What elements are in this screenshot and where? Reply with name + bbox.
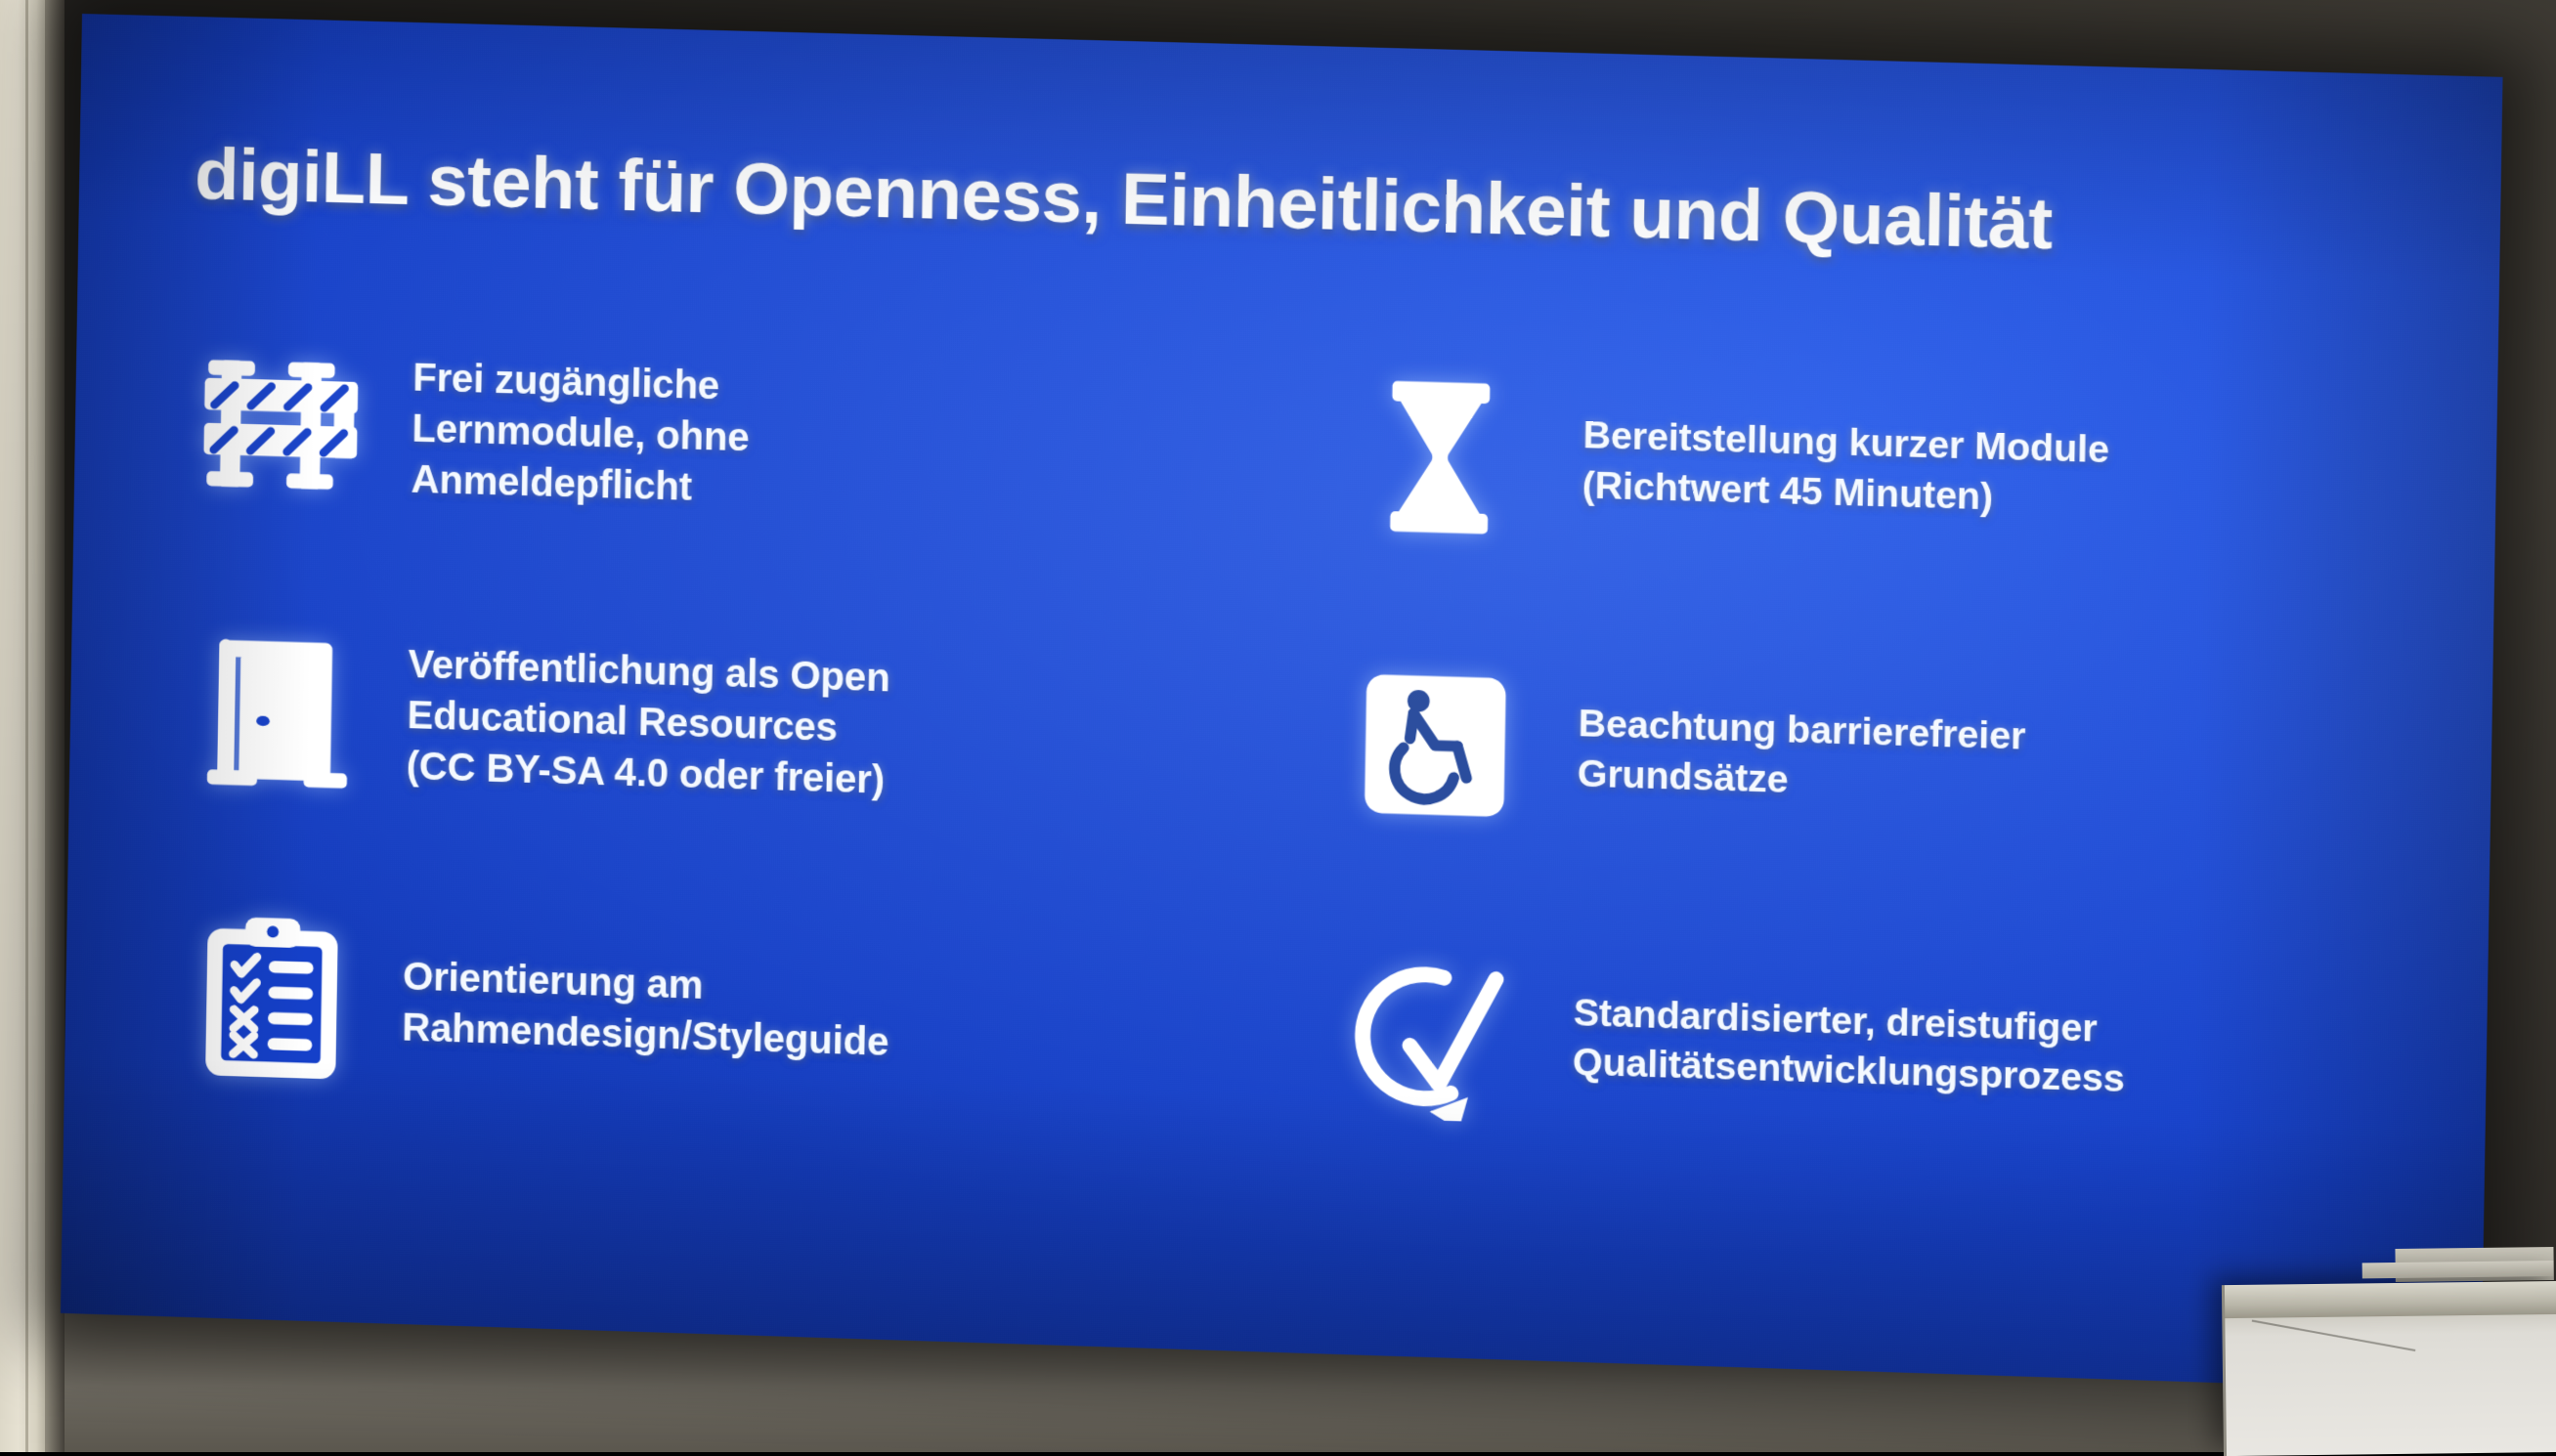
wheelchair-accessibility-icon bbox=[1335, 644, 1537, 846]
bullet-text: Veröffentlichung als Open Educational Re… bbox=[406, 639, 890, 806]
hourglass-icon bbox=[1339, 356, 1540, 558]
bullet-text: Beachtung barrierefreier Grundsätze bbox=[1577, 700, 2025, 813]
flipchart-surface bbox=[2222, 1281, 2556, 1456]
bullet-grid: Frei zugängliche Lernmodule, ohne Anmeld… bbox=[171, 278, 2418, 1209]
wall-seam bbox=[25, 0, 28, 1452]
bullet-item-barrierefreiheit: Beachtung barrierefreier Grundsätze bbox=[1317, 598, 2414, 920]
bullet-item-rahmendesign-styleguide: Orientierung am Rahmendesign/Styleguide bbox=[171, 852, 1257, 1173]
slide-title: digiLL steht für Openness, Einheitlichke… bbox=[195, 132, 2409, 275]
bullet-item-frei-zugaengliche-lernmodule: Frei zugängliche Lernmodule, ohne Anmeld… bbox=[181, 278, 1267, 596]
bullet-text: Standardisierter, dreistufiger Qualitäts… bbox=[1572, 989, 2125, 1106]
bullet-text: Bereitstellung kurzer Module (Richtwert … bbox=[1581, 411, 2109, 526]
slide-content: digiLL steht für Openness, Einheitlichke… bbox=[61, 14, 2503, 1392]
open-door-icon bbox=[177, 611, 376, 812]
wall-strip-left bbox=[0, 0, 45, 1452]
flipchart-paper-crease bbox=[2252, 1320, 2416, 1351]
presentation-slide: digiLL steht für Openness, Einheitlichke… bbox=[61, 14, 2503, 1392]
bullet-line: Lernmodule, ohne bbox=[412, 403, 750, 463]
road-barrier-icon bbox=[181, 324, 380, 526]
flipchart-board bbox=[2222, 1266, 2556, 1456]
cycle-checkmark-icon bbox=[1330, 932, 1532, 1135]
projection-screen-surface: digiLL steht für Openness, Einheitlichke… bbox=[61, 14, 2503, 1392]
room-background: digiLL steht für Openness, Einheitlichke… bbox=[0, 0, 2556, 1452]
bullet-text: Frei zugängliche Lernmodule, ohne Anmeld… bbox=[411, 352, 751, 514]
bullet-item-bereitstellung-kurzer-module: Bereitstellung kurzer Module (Richtwert … bbox=[1321, 310, 2418, 629]
bullet-item-veroeffentlichung-oer: Veröffentlichung als Open Educational Re… bbox=[176, 565, 1262, 884]
clipboard-checklist-icon bbox=[172, 898, 371, 1099]
flipchart-rail bbox=[2225, 1281, 2556, 1318]
bullet-text: Orientierung am Rahmendesign/Styleguide bbox=[402, 952, 890, 1069]
bullet-line: Anmeldepflicht bbox=[411, 453, 749, 514]
flipchart-top-edge bbox=[2362, 1261, 2554, 1278]
bullet-line: Frei zugängliche bbox=[412, 352, 751, 412]
bullet-item-qualitaetsprozess: Standardisierter, dreistufiger Qualitäts… bbox=[1312, 886, 2409, 1209]
